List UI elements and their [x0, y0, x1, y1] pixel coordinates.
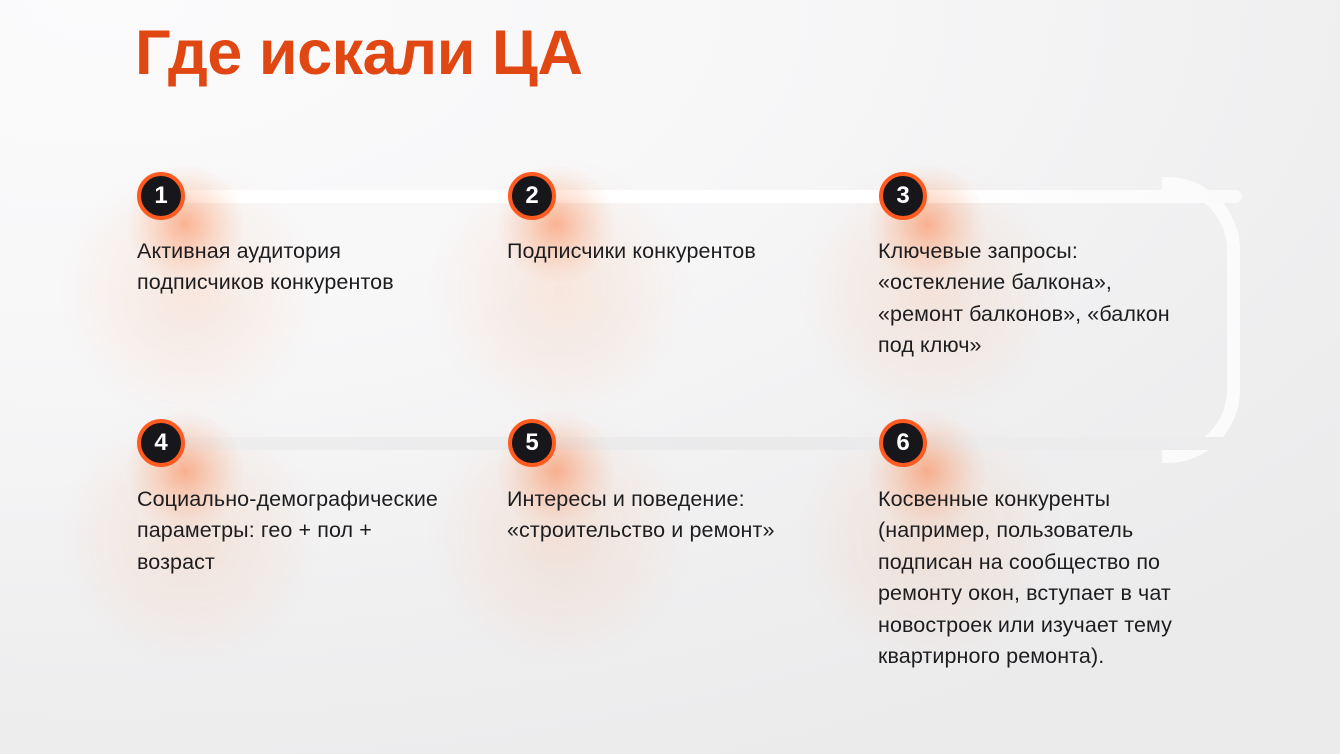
slide-canvas: Где искали ЦА 1Активная аудитория подпис… [0, 0, 1340, 754]
step-text-4: Социально-демографические параметры: гео… [137, 484, 438, 578]
step-badge-5[interactable]: 5 [508, 419, 556, 467]
step-badge-6[interactable]: 6 [879, 419, 927, 467]
track-segment-corner-right [1162, 177, 1240, 463]
background-glow-center [430, 160, 690, 420]
slide-title: Где искали ЦА [135, 18, 582, 89]
step-badge-4[interactable]: 4 [137, 419, 185, 467]
track-segment-row-one [160, 190, 1242, 203]
step-text-1: Активная аудитория подписчиков конкурент… [137, 236, 394, 299]
step-text-5: Интересы и поведение: «строительство и р… [507, 484, 775, 547]
step-text-3: Ключевые запросы: «остекление балкона», … [878, 236, 1170, 362]
step-badge-1[interactable]: 1 [137, 172, 185, 220]
step-text-6: Косвенные конкуренты (например, пользова… [878, 484, 1172, 672]
step-badge-2[interactable]: 2 [508, 172, 556, 220]
step-badge-3[interactable]: 3 [879, 172, 927, 220]
track-segment-row-two [160, 437, 1245, 450]
step-text-2: Подписчики конкурентов [507, 236, 756, 267]
